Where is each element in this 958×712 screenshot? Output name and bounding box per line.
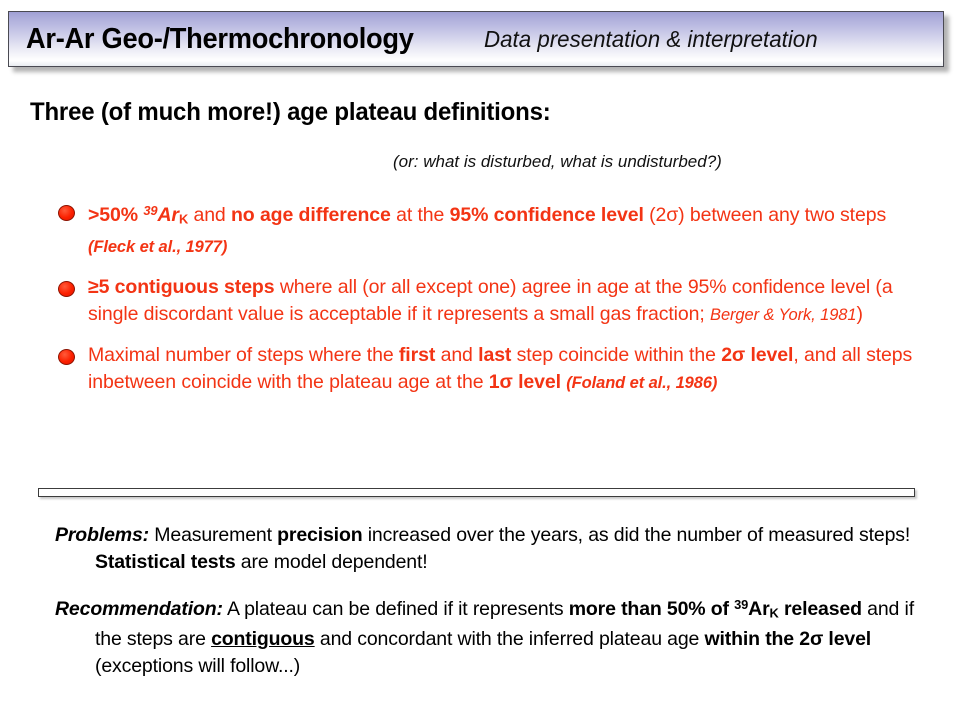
citation-berger-york: Berger & York, 1981 <box>710 306 856 324</box>
note-seg: and concordant with the inferred plateau… <box>315 628 705 650</box>
note-lead-label: Problems: <box>55 524 149 546</box>
note-seg-contiguous: contiguous <box>211 628 315 650</box>
list-item: >50% 39ArK and no age difference at the … <box>55 198 935 260</box>
section-parenthetical-note: (or: what is disturbed, what is undistur… <box>393 152 722 172</box>
ar-symbol: Ar <box>748 598 769 620</box>
slide-root: { "header": { "title": "Ar-Ar Geo-/Therm… <box>0 0 958 712</box>
bullet-text-berger-york: ≥5 contiguous steps where all (or all ex… <box>88 274 935 328</box>
ar-symbol: Ar <box>157 204 178 226</box>
plateau-definition-list: >50% 39ArK and no age difference at the … <box>55 198 935 410</box>
note-seg: more than 50% of <box>569 598 734 620</box>
red-bullet-dot-icon <box>58 205 75 221</box>
note-seg: precision <box>277 524 362 546</box>
notes-section: Problems: Measurement precision increase… <box>55 522 935 695</box>
note-seg: increased over the years, as did the num… <box>362 524 910 546</box>
list-item: ≥5 contiguous steps where all (or all ex… <box>55 274 935 328</box>
horizontal-divider <box>38 488 915 497</box>
note-seg: A plateau can be defined if it represent… <box>223 598 569 620</box>
bullet-seg: 95% confidence level <box>450 204 644 226</box>
bullet-seg: step coincide within the <box>511 344 721 366</box>
slide-subtitle: Data presentation & interpretation <box>484 26 818 53</box>
list-item: Maximal number of steps where the first … <box>55 342 935 396</box>
bullet-seg: and <box>188 204 231 226</box>
red-bullet-dot-icon <box>58 281 75 297</box>
note-seg: within the 2σ level <box>705 628 872 650</box>
slide-title: Ar-Ar Geo-/Thermochronology <box>26 23 414 56</box>
bullet-seg: (2σ) between any two steps <box>644 204 886 226</box>
superscript-39: 39 <box>143 203 157 218</box>
bullet-seg: 1σ level <box>489 371 561 393</box>
bullet-seg: first <box>399 344 435 366</box>
bullet-text-fleck: >50% 39ArK and no age difference at the … <box>88 198 935 260</box>
superscript-39: 39 <box>734 597 748 612</box>
bullet-seg: and <box>435 344 478 366</box>
bullet-seg: Maximal number of steps where the <box>88 344 399 366</box>
note-seg: are model dependent! <box>236 551 428 573</box>
section-heading: Three (of much more!) age plateau defini… <box>30 98 551 127</box>
slide-header-bar: Ar-Ar Geo-/Thermochronology Data present… <box>8 11 944 67</box>
note-seg: (exceptions will follow...) <box>95 655 300 677</box>
note-seg: Measurement <box>149 524 277 546</box>
citation-fleck: (Fleck et al., 1977) <box>88 238 227 256</box>
subscript-k: K <box>770 605 779 620</box>
bullet-seg: last <box>478 344 511 366</box>
note-seg: released <box>779 598 862 620</box>
note-lead-label: Recommendation: <box>55 598 223 620</box>
note-seg: Statistical tests <box>95 551 236 573</box>
bullet-seg: 2σ level <box>721 344 793 366</box>
bullet-text-foland: Maximal number of steps where the first … <box>88 342 935 396</box>
red-bullet-dot-icon <box>58 349 75 365</box>
bullet-seg: no age difference <box>231 204 391 226</box>
bullet-seg: ≥5 contiguous steps <box>88 276 275 298</box>
subscript-k: K <box>179 211 188 226</box>
bullet-seg: >50% <box>88 204 143 226</box>
bullet-seg: ) <box>856 303 862 325</box>
note-problems: Problems: Measurement precision increase… <box>55 522 935 576</box>
bullet-seg: at the <box>391 204 450 226</box>
citation-foland: (Foland et al., 1986) <box>566 374 717 392</box>
note-recommendation: Recommendation: A plateau can be defined… <box>55 591 935 680</box>
